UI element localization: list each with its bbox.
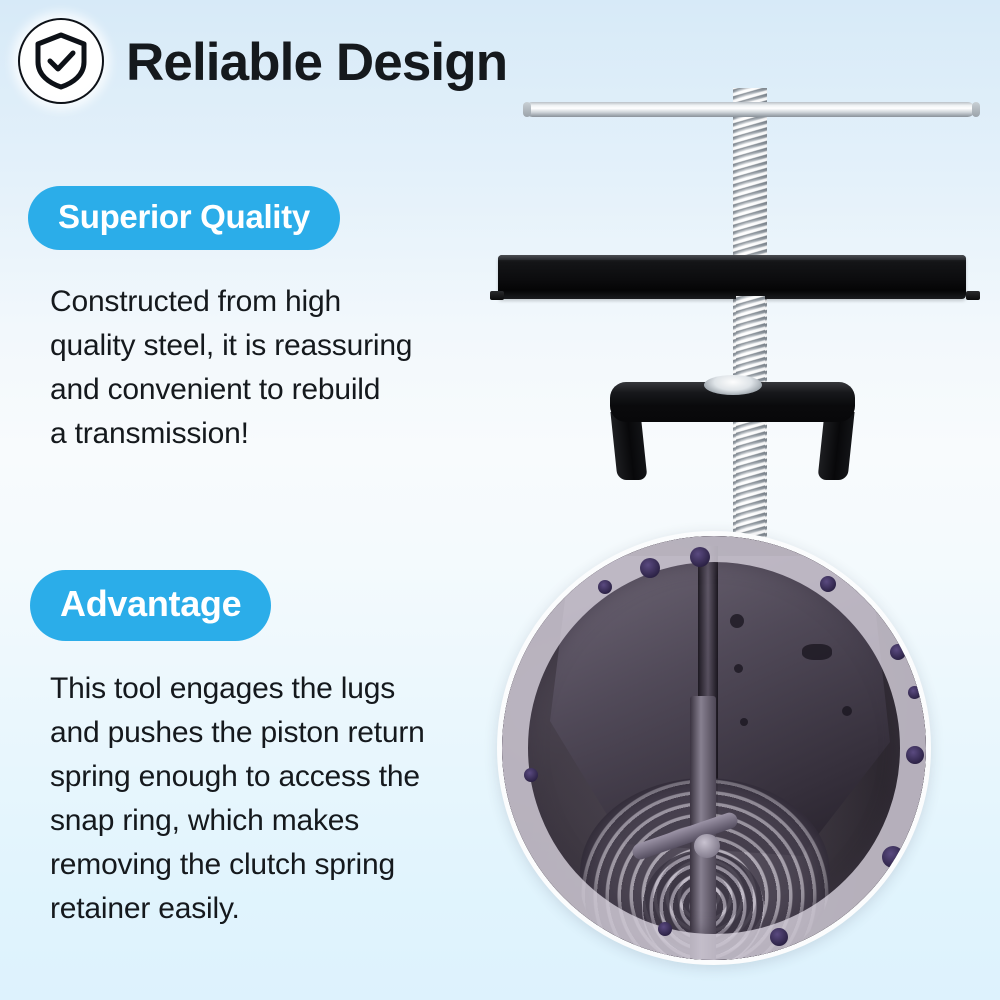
page-title: Reliable Design bbox=[126, 36, 507, 89]
flange-bolt-hole bbox=[890, 644, 906, 660]
shield-check-icon bbox=[18, 18, 104, 104]
screw-washer bbox=[704, 375, 762, 395]
t-handle-end-cap-left bbox=[523, 102, 531, 117]
black-cross-bar-top-edge bbox=[498, 255, 966, 260]
body-line: spring enough to access the bbox=[50, 755, 425, 799]
flange-bolt-hole bbox=[598, 580, 612, 594]
body-line: This tool engages the lugs bbox=[50, 667, 425, 711]
body-line: a transmission! bbox=[50, 412, 412, 456]
feature-advantage: Advantage This tool engages the lugs and… bbox=[30, 570, 425, 931]
flange-bolt-hole bbox=[906, 746, 924, 764]
feature-superior-quality: Superior Quality Constructed from high q… bbox=[28, 186, 412, 456]
cross-bar-tab-right bbox=[966, 291, 980, 300]
body-line: retainer easily. bbox=[50, 887, 425, 931]
black-cross-bar bbox=[498, 255, 966, 299]
body-line: and convenient to rebuild bbox=[50, 368, 412, 412]
body-line: removing the clutch spring bbox=[50, 843, 425, 887]
bridge-foot-bracket bbox=[610, 382, 855, 480]
feature-advantage-body: This tool engages the lugs and pushes th… bbox=[50, 667, 425, 931]
flange-bolt-hole bbox=[908, 686, 921, 699]
cross-bar-tab-left bbox=[490, 291, 504, 300]
badge-superior-quality: Superior Quality bbox=[28, 186, 340, 250]
product-infographic: Reliable Design Superior Quality Constru… bbox=[0, 0, 1000, 1000]
foot-leg-right bbox=[817, 412, 854, 480]
flange-bolt-hole bbox=[658, 922, 672, 936]
transmission-bell-housing-photo bbox=[497, 531, 931, 965]
flange-bolt-hole bbox=[820, 576, 836, 592]
badge-advantage: Advantage bbox=[30, 570, 271, 641]
flange-bolt-hole bbox=[882, 846, 904, 868]
header: Reliable Design bbox=[18, 18, 507, 104]
body-line: quality steel, it is reassuring bbox=[50, 324, 412, 368]
flange-bolt-hole bbox=[524, 768, 538, 782]
body-line: Constructed from high bbox=[50, 280, 412, 324]
feature-superior-quality-body: Constructed from high quality steel, it … bbox=[50, 280, 412, 456]
body-line: and pushes the piston return bbox=[50, 711, 425, 755]
flange-bolt-hole bbox=[690, 547, 710, 567]
t-handle-bar bbox=[525, 102, 975, 117]
flange-bolt-hole bbox=[640, 558, 660, 578]
t-handle-end-cap-right bbox=[972, 102, 980, 117]
clutch-spring-compressor-tool-image bbox=[480, 60, 990, 480]
flange-bolt-hole bbox=[770, 928, 788, 946]
foot-leg-left bbox=[610, 412, 647, 480]
bell-housing-flange bbox=[502, 536, 926, 960]
body-line: snap ring, which makes bbox=[50, 799, 425, 843]
